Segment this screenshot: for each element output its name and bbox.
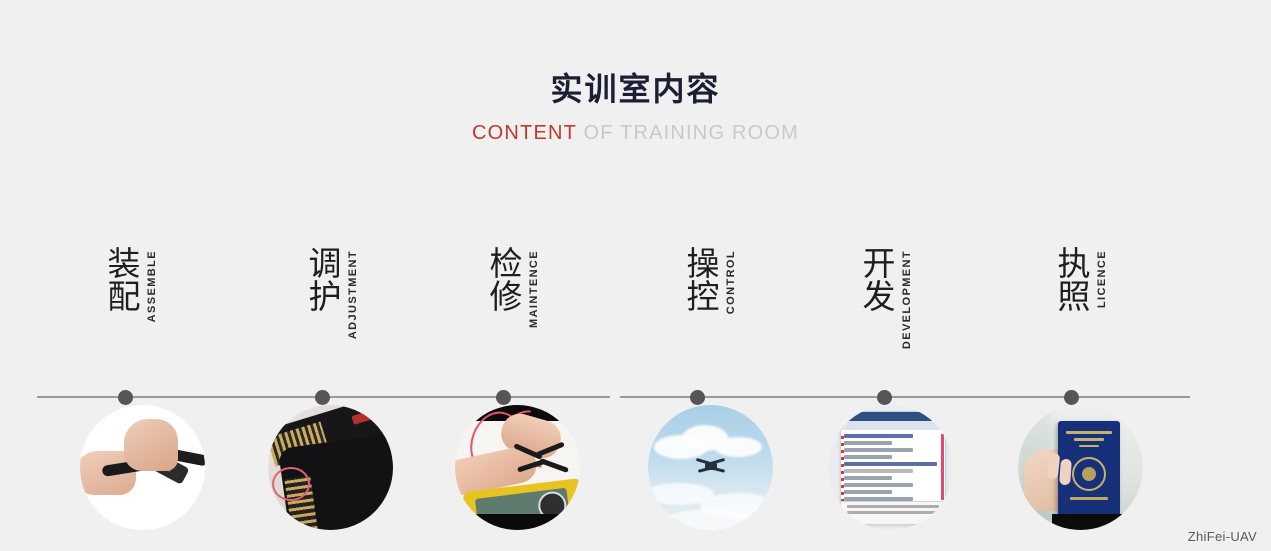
subtitle-muted: OF TRAINING ROOM — [577, 122, 799, 144]
step-label-en: ASSEMBLE — [146, 250, 158, 322]
step-label-en: DEVELOPMENT — [901, 250, 913, 349]
step-label-en: CONTROL — [725, 250, 737, 314]
photo-assemble[interactable] — [80, 405, 205, 530]
step-label-cn: 执照 — [1052, 246, 1090, 312]
timeline-dot-3[interactable] — [496, 390, 511, 405]
step-label-en: MAINTENCE — [528, 250, 540, 328]
step-label-cn: 操控 — [681, 246, 719, 312]
step-label-maintenance[interactable]: 检修 MAINTENCE — [484, 246, 540, 328]
timeline-dot-4[interactable] — [690, 390, 705, 405]
step-label-cn: 调护 — [303, 246, 341, 312]
photo-licence[interactable] — [1018, 405, 1143, 530]
photo-development[interactable] — [828, 405, 953, 530]
assemble-illustration — [80, 405, 205, 530]
photo-adjustment[interactable] — [268, 405, 393, 530]
photo-group — [0, 405, 1271, 551]
step-label-licence[interactable]: 执照 LICENCE — [1052, 246, 1108, 312]
timeline — [0, 186, 1271, 236]
code-editor-illustration — [828, 405, 953, 530]
multimeter-illustration — [455, 405, 580, 530]
page-header: 实训室内容 CONTENT OF TRAINING ROOM — [0, 0, 1271, 145]
timeline-dot-1[interactable] — [118, 390, 133, 405]
timeline-dot-6[interactable] — [1064, 390, 1079, 405]
step-label-assemble[interactable]: 装配 ASSEMBLE — [102, 246, 158, 322]
step-label-group: 装配 ASSEMBLE 调护 ADJUSTMENT 检修 MAINTENCE 操… — [0, 246, 1271, 366]
timeline-dot-2[interactable] — [315, 390, 330, 405]
step-label-development[interactable]: 开发 DEVELOPMENT — [857, 246, 913, 349]
pcb-illustration — [268, 405, 393, 530]
photo-control[interactable] — [648, 405, 773, 530]
page-subtitle: CONTENT OF TRAINING ROOM — [0, 109, 1271, 145]
step-label-cn: 开发 — [857, 246, 895, 312]
licence-illustration — [1018, 405, 1143, 530]
watermark: ZhiFei-UAV — [1188, 529, 1257, 544]
step-label-adjustment[interactable]: 调护 ADJUSTMENT — [303, 246, 359, 339]
photo-maintenance[interactable] — [455, 405, 580, 530]
step-label-control[interactable]: 操控 CONTROL — [681, 246, 737, 314]
page-title: 实训室内容 — [0, 0, 1271, 109]
timeline-dot-5[interactable] — [877, 390, 892, 405]
subtitle-accent: CONTENT — [472, 122, 577, 144]
timeline-line-right — [620, 396, 1190, 398]
sky-drone-illustration — [648, 405, 773, 530]
step-label-cn: 检修 — [484, 246, 522, 312]
step-label-en: LICENCE — [1096, 250, 1108, 308]
step-label-en: ADJUSTMENT — [347, 250, 359, 339]
step-label-cn: 装配 — [102, 246, 140, 312]
